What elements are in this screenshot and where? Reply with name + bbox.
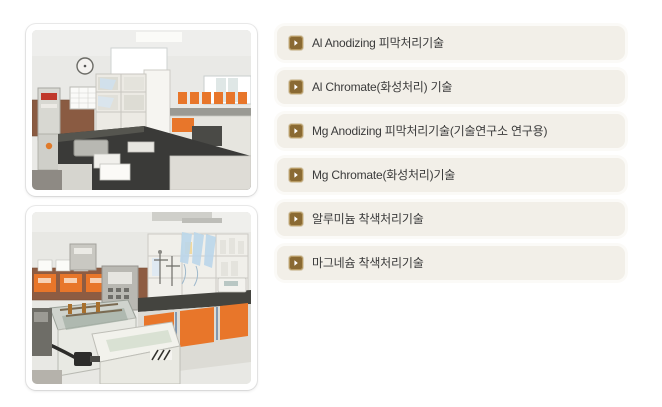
chevron-right-icon [289, 256, 303, 270]
laboratory-bench-room-graphic [32, 30, 251, 190]
menu-item-al-anodizing[interactable]: Al Anodizing 피막처리기술 [277, 26, 625, 60]
menu-item-magnesium-coloring[interactable]: 마그네슘 착색처리기술 [277, 246, 625, 280]
photo-panel-laboratory-bench-room [26, 24, 257, 196]
menu-item-label: Al Anodizing 피막처리기술 [312, 37, 444, 49]
plating-anodizing-line-image [32, 212, 251, 384]
menu-item-mg-anodizing[interactable]: Mg Anodizing 피막처리기술(기술연구소 연구용) [277, 114, 625, 148]
chevron-right-icon [289, 212, 303, 226]
menu-item-label: Mg Chromate(화성처리)기술 [312, 169, 455, 181]
plating-anodizing-line-graphic [32, 212, 251, 384]
menu-item-label: Al Chromate(화성처리) 기술 [312, 81, 452, 93]
photo-panel-plating-anodizing-line [26, 206, 257, 390]
technology-menu-list: Al Anodizing 피막처리기술 Al Chromate(화성처리) 기술… [277, 26, 625, 280]
menu-item-label: 마그네슘 착색처리기술 [312, 257, 424, 269]
chevron-right-icon [289, 80, 303, 94]
chevron-right-icon [289, 124, 303, 138]
menu-item-al-chromate[interactable]: Al Chromate(화성처리) 기술 [277, 70, 625, 104]
laboratory-bench-room-image [32, 30, 251, 190]
menu-item-mg-chromate[interactable]: Mg Chromate(화성처리)기술 [277, 158, 625, 192]
menu-item-label: Mg Anodizing 피막처리기술(기술연구소 연구용) [312, 125, 547, 137]
menu-item-label: 알루미늄 착색처리기술 [312, 213, 424, 225]
menu-item-aluminum-coloring[interactable]: 알루미늄 착색처리기술 [277, 202, 625, 236]
chevron-right-icon [289, 168, 303, 182]
chevron-right-icon [289, 36, 303, 50]
